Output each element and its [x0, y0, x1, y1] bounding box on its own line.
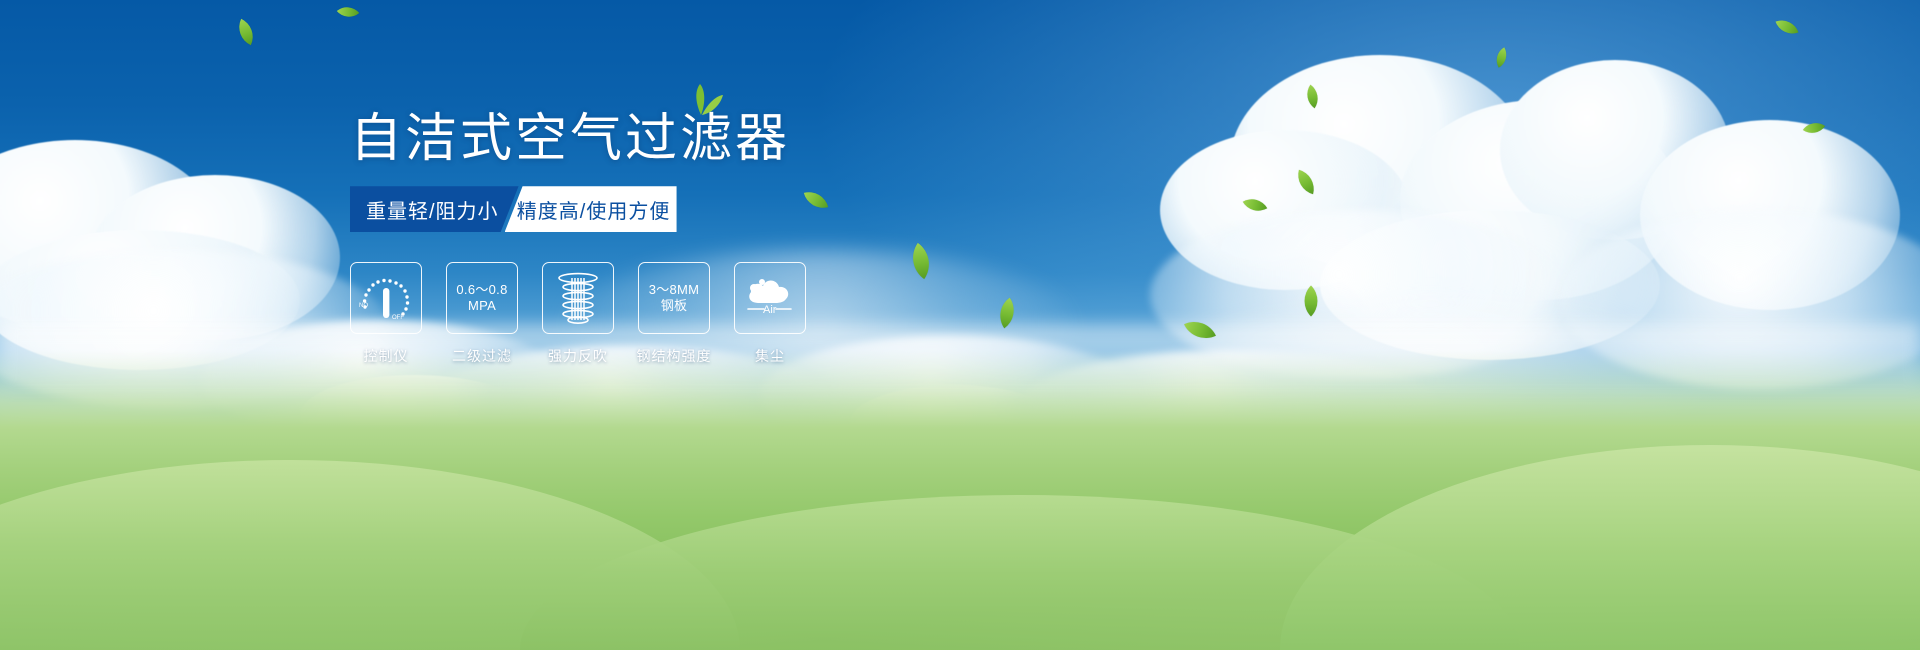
feature-box: 0.6～0.8MPA	[446, 262, 518, 334]
feature-box: 3～8MM钢板	[638, 262, 710, 334]
steel-plate-text-icon: 3～8MM钢板	[649, 282, 700, 315]
tag-label: 重量轻/阻力小	[366, 195, 499, 224]
feature-box: Air	[734, 262, 806, 334]
feature-box	[542, 262, 614, 334]
feature-box: NO OFF	[350, 262, 422, 334]
gauge-dial-icon: NO OFF	[357, 271, 415, 325]
gauge-off-label: OFF	[392, 315, 404, 321]
feature-controller[interactable]: NO OFF 控制仪	[350, 262, 422, 366]
feature-tags: 重量轻/阻力小 精度高/使用方便	[350, 186, 670, 232]
pressure-text-icon: 0.6～0.8MPA	[456, 282, 507, 315]
tag-label: 精度高/使用方便	[517, 195, 671, 224]
feature-backblow[interactable]: 强力反吹	[542, 262, 614, 366]
leaf-pair-icon	[680, 82, 724, 116]
feature-two-stage-filter[interactable]: 0.6～0.8MPA 二级过滤	[446, 262, 518, 366]
grass-field	[0, 350, 1920, 650]
feature-caption: 集尘	[734, 346, 806, 366]
gauge-no-label: NO	[359, 303, 368, 309]
filter-cartridge-icon	[552, 270, 604, 326]
feature-caption: 二级过滤	[446, 346, 518, 366]
feature-caption: 强力反吹	[542, 346, 614, 366]
banner-content: 自洁式空气过滤器 重量轻/阻力小 精度高/使用方便	[350, 110, 806, 366]
tag-precision[interactable]: 精度高/使用方便	[505, 186, 677, 232]
air-label: Air	[763, 304, 777, 316]
page-title: 自洁式空气过滤器	[350, 110, 790, 168]
feature-caption: 钢结构强度	[624, 346, 724, 366]
feature-dust-collection[interactable]: Air 集尘	[734, 262, 806, 366]
tag-lightweight[interactable]: 重量轻/阻力小	[350, 186, 519, 232]
cloud-air-icon: Air	[742, 273, 798, 323]
hill-shape	[1280, 445, 1920, 650]
feature-steel-strength[interactable]: 3～8MM钢板 钢结构强度	[638, 262, 710, 366]
feature-caption: 控制仪	[350, 346, 422, 366]
hero-banner: 自洁式空气过滤器 重量轻/阻力小 精度高/使用方便	[0, 0, 1920, 650]
title-wrapper: 自洁式空气过滤器	[350, 110, 790, 168]
feature-icon-row: NO OFF 控制仪 0.6～0.8MPA 二级过滤	[350, 262, 806, 366]
horizon-haze	[0, 325, 1920, 395]
